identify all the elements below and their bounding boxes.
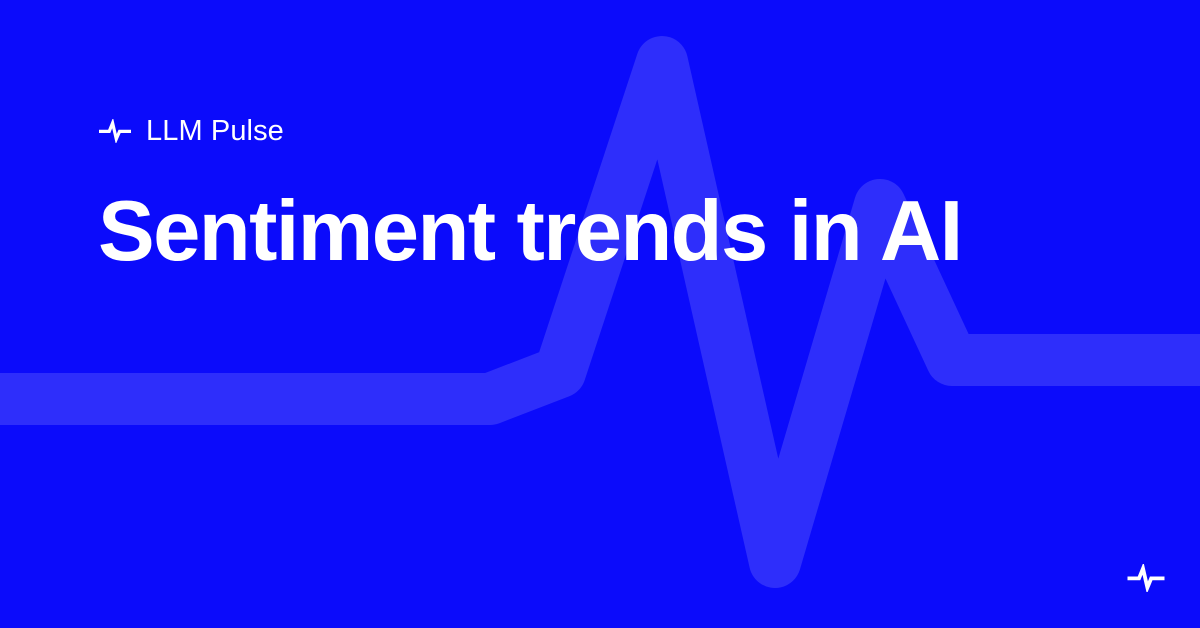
corner-pulse-icon xyxy=(1126,564,1166,592)
brand-lockup: LLM Pulse xyxy=(98,113,284,149)
pulse-waveform-background xyxy=(0,0,1200,628)
page-title: Sentiment trends in AI xyxy=(98,184,1108,280)
brand-name: LLM Pulse xyxy=(146,114,284,148)
pulse-icon xyxy=(98,119,132,143)
social-card: LLM Pulse Sentiment trends in AI xyxy=(0,0,1200,628)
